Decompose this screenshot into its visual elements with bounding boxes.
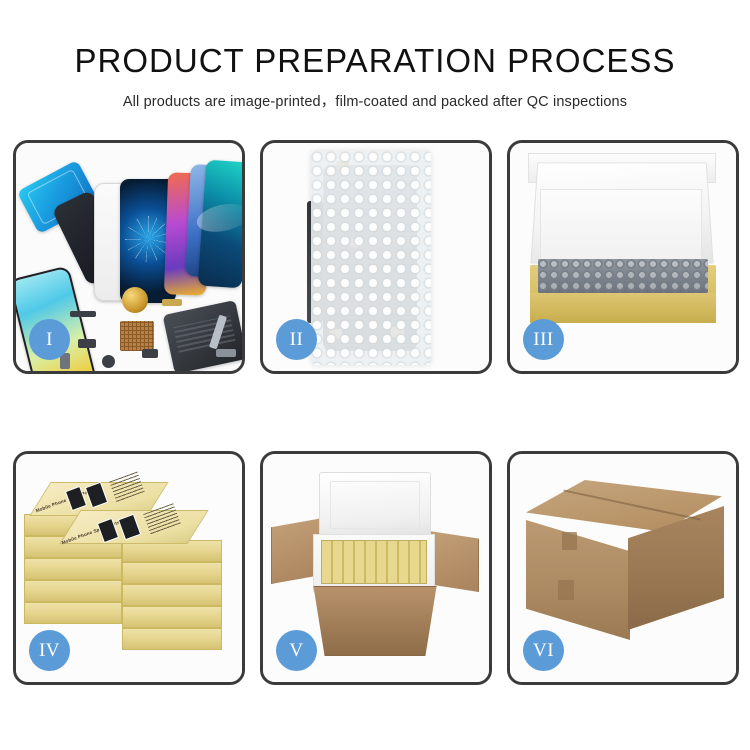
stacked-box-l4 — [24, 580, 122, 602]
step-badge-1: I — [29, 319, 70, 360]
process-step-panel-3[interactable]: III — [507, 140, 739, 374]
foam-lid-icon — [319, 472, 431, 538]
stacked-box-l3 — [24, 558, 122, 580]
bubble-wrapped-contents-icon — [538, 259, 708, 293]
carton-tape-lower — [558, 580, 574, 600]
process-step-panel-1[interactable]: I — [13, 140, 245, 374]
product-preparation-infographic: PRODUCT PREPARATION PROCESS All products… — [0, 0, 750, 750]
process-step-grid: I II III — [13, 140, 739, 685]
shipping-carton-open-icon — [305, 586, 445, 656]
phone-chassis-icon — [163, 300, 245, 374]
process-step-panel-2[interactable]: II — [260, 140, 492, 374]
flex-cable-icon — [70, 311, 96, 317]
carton-tape-upper — [562, 532, 577, 550]
step-badge-3: III — [523, 319, 564, 360]
phone-teal-icon — [198, 160, 245, 289]
stacked-box-r2 — [122, 562, 222, 584]
button-part-icon — [102, 355, 115, 368]
stacked-box-r5 — [122, 628, 222, 650]
step-badge-2: II — [276, 319, 317, 360]
bubble-wrap-film-icon — [311, 151, 431, 365]
speaker-module-icon — [122, 287, 148, 313]
step-badge-6: VI — [523, 630, 564, 671]
stacked-box-l5 — [24, 602, 122, 624]
carton-left-face — [526, 520, 630, 640]
box-front-panel-icon — [530, 293, 716, 323]
process-step-panel-6[interactable]: VI — [507, 451, 739, 685]
stacked-box-r4 — [122, 606, 222, 628]
process-step-panel-5[interactable]: V — [260, 451, 492, 685]
camera-module-icon — [78, 339, 96, 348]
page-subtitle: All products are image-printed，film-coat… — [0, 90, 750, 111]
process-step-panel-4[interactable]: Mobile Phone Spare Parts Mobile Phone Sp… — [13, 451, 245, 685]
stacked-box-r3 — [122, 584, 222, 606]
packed-boxes-icon — [321, 540, 427, 584]
foam-sheet-icon — [540, 189, 702, 267]
screws-icon — [216, 349, 236, 357]
logic-board-icon — [120, 321, 154, 351]
header: PRODUCT PREPARATION PROCESS All products… — [0, 0, 750, 111]
connector-icon — [162, 299, 182, 306]
vibrator-icon — [142, 349, 158, 358]
page-title: PRODUCT PREPARATION PROCESS — [0, 42, 750, 80]
step-badge-5: V — [276, 630, 317, 671]
step-badge-4: IV — [29, 630, 70, 671]
